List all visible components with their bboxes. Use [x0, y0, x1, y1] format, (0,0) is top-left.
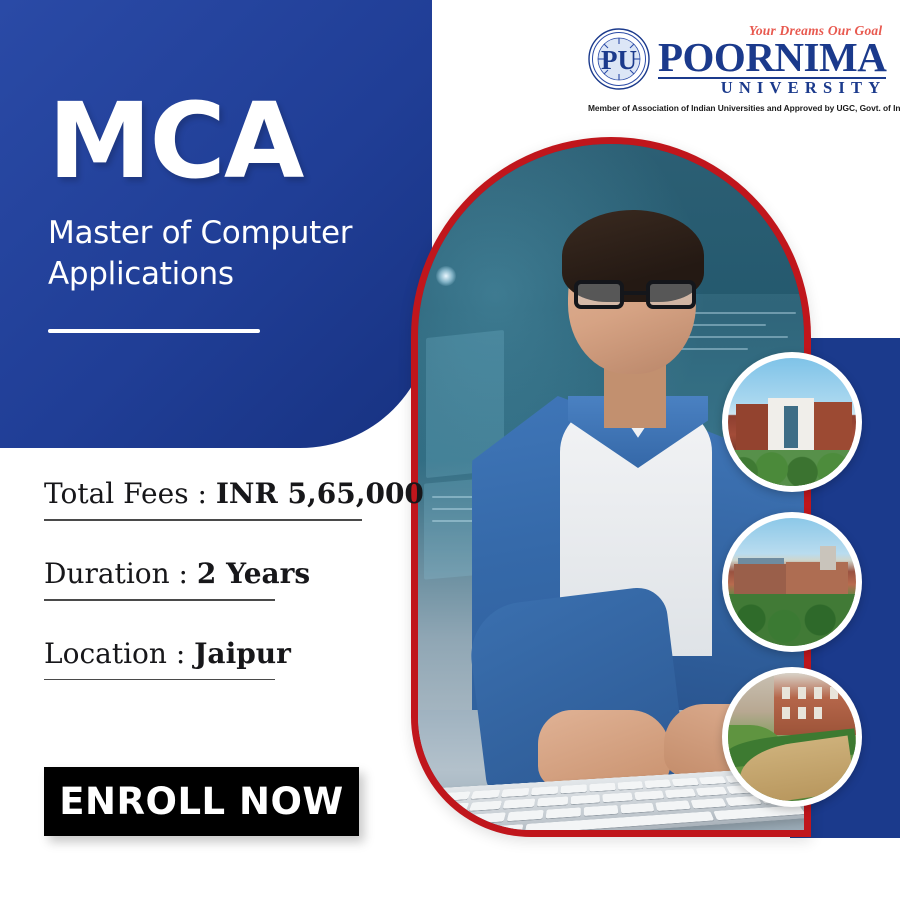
ceiling-light	[436, 266, 456, 286]
campus-thumbnail-3: Landscaped campus walkway beside a hoste…	[722, 667, 862, 807]
detail-label-duration: Duration :	[44, 557, 188, 590]
lens-left	[574, 280, 624, 309]
detail-underline	[44, 519, 362, 521]
lens-right	[646, 280, 696, 309]
enroll-now-label: ENROLL NOW	[59, 783, 343, 820]
detail-row-total-fees: Total Fees : INR 5,65,000	[44, 478, 424, 521]
detail-row-duration: Duration : 2 Years	[44, 558, 424, 601]
campus-thumbnail-1: Poornima University academic block build…	[722, 352, 862, 492]
program-details-list: Total Fees : INR 5,65,000 Duration : 2 Y…	[44, 478, 424, 717]
detail-label-total-fees: Total Fees :	[44, 477, 207, 510]
enroll-now-button[interactable]: ENROLL NOW	[44, 767, 359, 836]
program-subtitle-line2: Applications	[48, 256, 234, 292]
thumbnail-image	[728, 518, 856, 646]
detail-text: Total Fees : INR 5,65,000	[44, 478, 424, 510]
logo-subname: UNIVERSITY	[715, 80, 887, 97]
detail-underline	[44, 599, 275, 601]
detail-row-location: Location : Jaipur	[44, 638, 424, 681]
detail-text: Duration : 2 Years	[44, 558, 424, 590]
logo-row: PU Your Dreams Our Goal POORNIMA UNIVERS…	[588, 22, 884, 97]
detail-underline	[44, 679, 275, 681]
program-subtitle: Master of Computer Applications	[48, 213, 418, 295]
program-subtitle-line1: Master of Computer	[48, 215, 352, 251]
thumbnail-image	[728, 673, 856, 801]
detail-value-duration: 2 Years	[197, 557, 310, 590]
detail-value-location: Jaipur	[194, 637, 291, 670]
logo-name: POORNIMA	[658, 39, 886, 77]
poster-canvas: PU Your Dreams Our Goal POORNIMA UNIVERS…	[0, 0, 900, 900]
detail-label-location: Location :	[44, 637, 185, 670]
detail-text: Location : Jaipur	[44, 638, 424, 670]
university-seal-icon: PU	[588, 28, 650, 90]
lens-bridge	[624, 291, 646, 295]
thumbnail-image	[728, 358, 856, 486]
program-title: MCA	[48, 92, 418, 191]
logo-wordmark: Your Dreams Our Goal POORNIMA UNIVERSITY	[658, 22, 886, 97]
eyeglasses-icon	[574, 280, 696, 310]
university-logo: PU Your Dreams Our Goal POORNIMA UNIVERS…	[588, 22, 884, 114]
campus-thumbnail-2: Aerial view of Poornima University campu…	[722, 512, 862, 652]
accreditation-text: Member of Association of Indian Universi…	[588, 103, 884, 113]
svg-text:PU: PU	[601, 45, 637, 75]
hero-text-block: MCA Master of Computer Applications	[48, 92, 418, 333]
hero-divider	[48, 329, 260, 333]
detail-value-total-fees: INR 5,65,000	[216, 477, 424, 510]
